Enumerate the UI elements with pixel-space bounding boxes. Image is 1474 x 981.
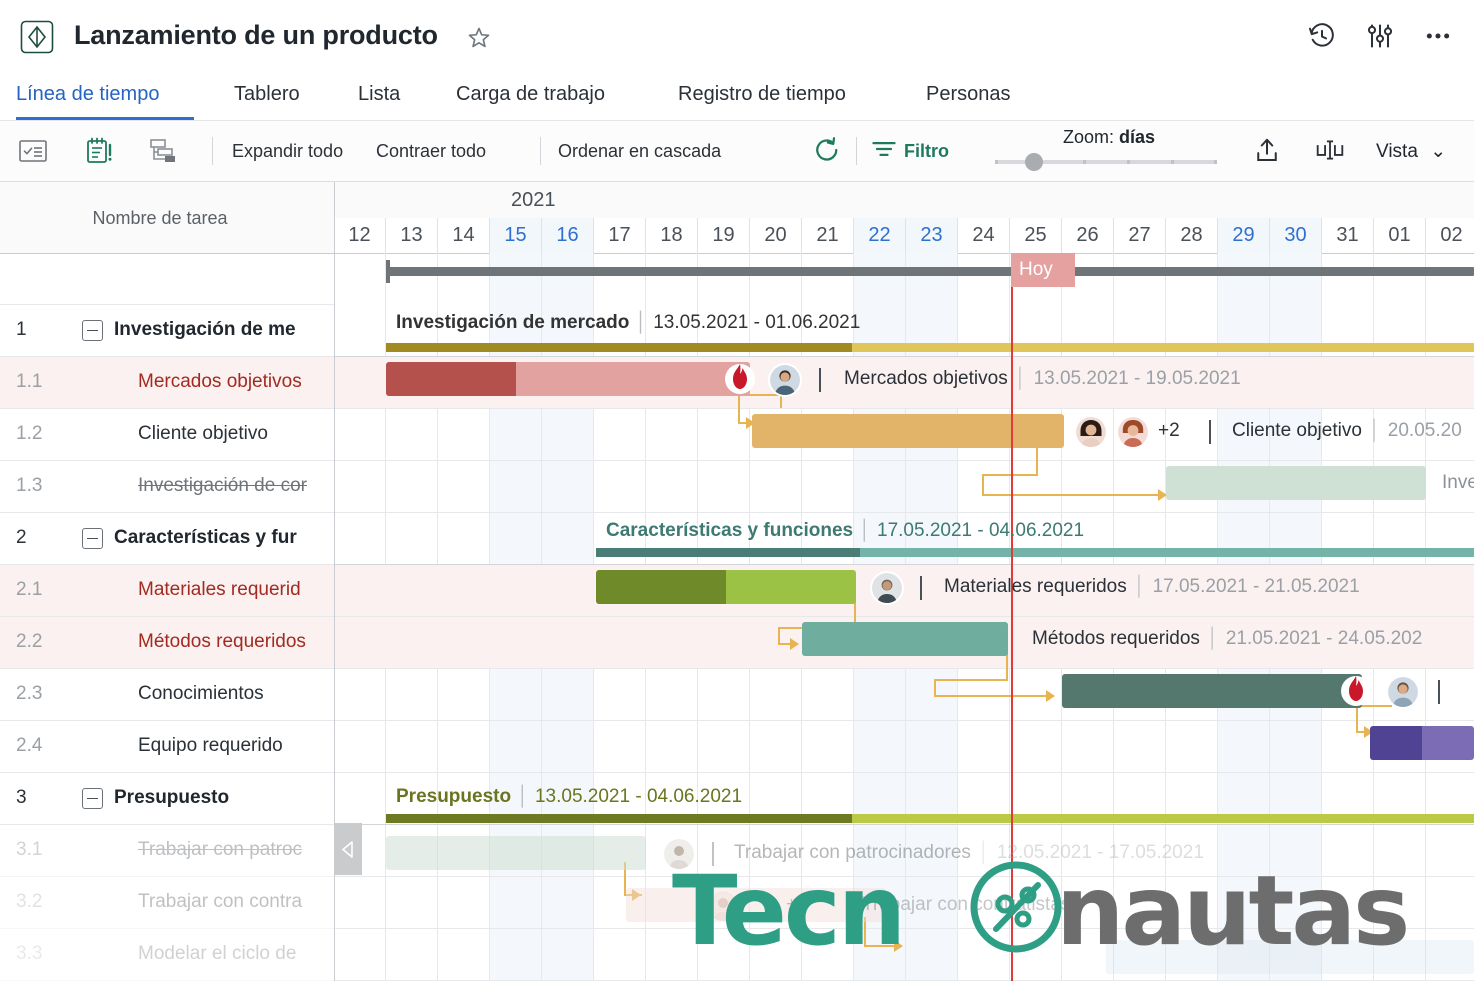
today-line <box>1011 253 1013 981</box>
bar-progress-fill <box>386 836 646 870</box>
zoom-value: días <box>1119 127 1155 147</box>
dependency-link <box>1356 705 1360 733</box>
label-separator <box>1209 420 1211 444</box>
task-row-1-2[interactable]: 1.2Cliente objetivo <box>0 409 334 461</box>
dependency-link <box>982 474 986 496</box>
task-row-name: Trabajar con contra <box>138 891 328 913</box>
dependency-link <box>934 695 1054 699</box>
view-dropdown-label: Vista <box>1376 141 1418 162</box>
dependency-link <box>1006 653 1010 681</box>
avatar[interactable] <box>1074 415 1108 449</box>
collapse-all-button[interactable]: Contraer todo <box>376 141 486 162</box>
avatar[interactable] <box>1116 415 1150 449</box>
task-row-1-3[interactable]: 1.3Investigación de cor <box>0 461 334 513</box>
summary-label-1: Investigación de mercado│13.05.2021 - 01… <box>396 312 860 334</box>
summary-progress-fill <box>386 814 852 823</box>
task-row-name: Características y fur <box>114 527 326 549</box>
avatar[interactable] <box>768 363 802 397</box>
dependency-link <box>982 474 1038 478</box>
task-bar-trabajar-contratistas[interactable] <box>626 888 886 922</box>
day-header-26[interactable]: 26 <box>1062 218 1114 253</box>
chevron-down-icon: ⌄ <box>1430 141 1446 162</box>
today-badge: Hoy <box>1011 253 1075 287</box>
task-name: Métodos requeridos <box>1032 628 1200 649</box>
project-progress-line <box>386 267 1474 276</box>
task-row-name: Modelar el ciclo de <box>138 943 328 965</box>
bar-progress-fill <box>1062 674 1362 708</box>
task-label-trabajar-contratistas: Trabajar con contratistas <box>862 894 1070 916</box>
task-row-name: Conocimientos <box>138 683 328 705</box>
task-label-cliente-objetivo: Cliente objetivo│20.05.20 <box>1232 420 1462 442</box>
task-row-name: Mercados objetivos <box>138 371 328 393</box>
task-row-number: 1.2 <box>16 423 42 445</box>
summary-remaining-fill <box>852 343 1474 352</box>
flame-icon <box>1340 673 1372 707</box>
bar-progress-fill <box>386 362 516 396</box>
task-label-investigacion-competencia: Inve <box>1442 472 1474 494</box>
task-row-name: Presupuesto <box>114 787 326 809</box>
tab-registro-de-tiempo[interactable]: Registro de tiempo <box>678 76 886 120</box>
day-header-28[interactable]: 28 <box>1166 218 1218 253</box>
avatar[interactable] <box>1386 675 1420 709</box>
avatar-overflow-count: +2 <box>786 894 808 916</box>
slider-notch <box>1083 160 1086 164</box>
pane-collapse-handle[interactable] <box>334 823 362 875</box>
task-row-name: Materiales requerid <box>138 579 328 601</box>
day-header-12[interactable]: 12 <box>334 218 386 253</box>
day-header-18[interactable]: 18 <box>646 218 698 253</box>
collapse-toggle-icon[interactable] <box>82 528 103 549</box>
dependency-link <box>934 679 1008 683</box>
bar-progress-fill <box>752 414 1064 448</box>
more-ellipsis-icon[interactable] <box>1420 18 1456 54</box>
collapse-toggle-icon[interactable] <box>82 788 103 809</box>
day-header-13[interactable]: 13 <box>386 218 438 253</box>
task-row-name: Investigación de me <box>114 319 326 341</box>
task-row-number: 2.3 <box>16 683 42 705</box>
collapse-left-triangle-icon <box>341 841 355 858</box>
summary-remaining-fill <box>860 548 1474 557</box>
task-row-number: 3.1 <box>16 839 42 861</box>
day-header-15[interactable]: 15 <box>490 218 542 253</box>
summary-bar-2[interactable] <box>596 548 1474 557</box>
collapse-toggle-icon[interactable] <box>82 320 103 341</box>
zoom-prefix: Zoom: <box>1063 127 1114 147</box>
summary-title: Investigación de mercado <box>396 312 629 333</box>
zoom-label: Zoom: días <box>1063 127 1155 148</box>
view-dropdown[interactable]: Vista ⌄ <box>1376 140 1446 163</box>
task-row-name: Trabajar con patroc <box>138 839 328 861</box>
tab-lista[interactable]: Lista <box>358 76 416 120</box>
avatar[interactable] <box>706 889 740 923</box>
summary-bar-1[interactable] <box>386 343 1474 352</box>
summary-label-3: Presupuesto│13.05.2021 - 04.06.2021 <box>396 786 742 808</box>
task-row-name: Investigación de cor <box>138 475 328 497</box>
dependency-arrow-icon <box>894 940 903 952</box>
task-dates: 20.05.20 <box>1388 420 1462 441</box>
task-list-rows: 1Investigación de me1.1Mercados objetivo… <box>0 253 334 981</box>
slider-notch <box>1127 160 1130 164</box>
slider-notch <box>1171 160 1174 164</box>
bar-remaining-fill <box>1422 726 1474 760</box>
day-header-19[interactable]: 19 <box>698 218 750 253</box>
day-header-31[interactable]: 31 <box>1322 218 1374 253</box>
task-row-number: 3 <box>16 787 27 809</box>
task-row-name: Cliente objetivo <box>138 423 328 445</box>
task-row-2[interactable]: 2Características y fur <box>0 513 334 565</box>
day-header-14[interactable]: 14 <box>438 218 490 253</box>
zoom-slider[interactable] <box>995 160 1217 164</box>
task-row-number: 2.2 <box>16 631 42 653</box>
fit-to-screen-icon[interactable] <box>1314 135 1348 167</box>
history-clock-icon[interactable] <box>1304 18 1340 54</box>
timeline-year-label: 2021 <box>511 189 556 212</box>
task-row-2-4[interactable]: 2.4Equipo requerido <box>0 721 334 773</box>
day-header-16[interactable]: 16 <box>542 218 594 253</box>
bar-remaining-fill <box>516 362 750 396</box>
dependency-arrow-icon <box>790 638 799 650</box>
task-row-number: 3.3 <box>16 943 42 965</box>
task-dates: 17.05.2021 - 21.05.2021 <box>1153 576 1360 597</box>
task-row-3-1[interactable]: 3.1Trabajar con patroc <box>0 825 334 877</box>
bar-progress-fill <box>1370 726 1422 760</box>
task-bar-equipo-requerido[interactable] <box>1370 726 1474 760</box>
task-name: Cliente objetivo <box>1232 420 1362 441</box>
avatar[interactable] <box>870 571 904 605</box>
task-bar-mercados-objetivos[interactable] <box>386 362 750 396</box>
day-header-29[interactable]: 29 <box>1218 218 1270 253</box>
task-row-name: Métodos requeridos <box>138 631 328 653</box>
label-separator <box>819 368 821 392</box>
task-bar-materiales-requeridos[interactable] <box>596 570 856 604</box>
cascade-sort-button[interactable]: Ordenar en cascada <box>558 141 721 162</box>
task-row-number: 2.4 <box>16 735 42 757</box>
avatar[interactable] <box>662 837 696 871</box>
task-row-number: 1.1 <box>16 371 42 393</box>
top-bar: Lanzamiento de un producto <box>0 0 1474 72</box>
task-bar-investigacion-competencia[interactable] <box>1166 466 1426 500</box>
view-tabs: Línea de tiempoTableroListaCarga de trab… <box>0 76 1474 121</box>
task-row-name: Equipo requerido <box>138 735 328 757</box>
toolbar: Expandir todo Contraer todo Ordenar en c… <box>0 121 1474 182</box>
label-separator <box>712 842 714 866</box>
day-header-25[interactable]: 25 <box>1010 218 1062 253</box>
day-header-27[interactable]: 27 <box>1114 218 1166 253</box>
task-bar-metodos-requeridos[interactable] <box>802 622 1008 656</box>
task-row-number: 2.1 <box>16 579 42 601</box>
summary-label-2: Características y funciones│17.05.2021 -… <box>606 520 1084 542</box>
task-bar-trabajar-patrocinadores[interactable] <box>386 836 646 870</box>
tab-tablero[interactable]: Tablero <box>234 76 322 120</box>
checklist-icon[interactable] <box>18 135 52 167</box>
bar-progress-fill <box>1166 466 1426 500</box>
task-row-2-2[interactable]: 2.2Métodos requeridos <box>0 617 334 669</box>
task-column-header-label: Nombre de tarea <box>0 208 320 229</box>
task-row-number: 1.3 <box>16 475 42 497</box>
day-header-21[interactable]: 21 <box>802 218 854 253</box>
dependency-arrow-icon <box>1046 690 1055 702</box>
page-title: Lanzamiento de un producto <box>74 20 438 51</box>
day-header-01[interactable]: 01 <box>1374 218 1426 253</box>
task-dates: 12.05.2021 - 17.05.2021 <box>997 842 1204 863</box>
day-header-23[interactable]: 23 <box>906 218 958 253</box>
zoom-slider-knob[interactable] <box>1025 153 1043 171</box>
flame-icon <box>724 361 756 395</box>
toolbar-divider-3 <box>856 137 857 165</box>
task-name: Materiales requeridos <box>944 576 1127 597</box>
task-dates: 21.05.2021 - 24.05.202 <box>1226 628 1423 649</box>
gantt-app: Lanzamiento de un producto <box>0 0 1474 981</box>
day-header-22[interactable]: 22 <box>854 218 906 253</box>
task-row-1-1[interactable]: 1.1Mercados objetivos <box>0 357 334 409</box>
slider-notch <box>1214 160 1217 164</box>
task-row-number: 2 <box>16 527 27 549</box>
timeline-panel: 2021 12131415161718192021222324252627282… <box>334 182 1474 981</box>
expand-all-button[interactable]: Expandir todo <box>232 141 343 162</box>
tab-personas[interactable]: Personas <box>926 76 1030 120</box>
task-row-3[interactable]: 3Presupuesto <box>0 773 334 825</box>
task-bar-conocimientos[interactable] <box>1062 674 1362 708</box>
tab-carga-de-trabajo[interactable]: Carga de trabajo <box>456 76 636 120</box>
slider-notch <box>995 160 998 164</box>
task-row-2-3[interactable]: 2.3Conocimientos <box>0 669 334 721</box>
task-row-2-1[interactable]: 2.1Materiales requerid <box>0 565 334 617</box>
diamond-logo-icon <box>20 20 54 54</box>
filter-button[interactable]: Filtro <box>904 141 949 162</box>
summary-remaining-fill <box>852 814 1474 823</box>
task-column-header: Nombre de tarea <box>0 182 334 254</box>
summary-progress-fill <box>386 343 852 352</box>
toolbar-divider <box>212 137 213 165</box>
summary-progress-fill <box>596 548 860 557</box>
timeline-row-band <box>334 721 1474 773</box>
summary-dates: 13.05.2021 - 04.06.2021 <box>535 786 742 807</box>
task-row-3-3[interactable]: 3.3Modelar el ciclo de <box>0 929 334 981</box>
task-bar-modelar-ciclo[interactable] <box>1106 940 1474 974</box>
task-list-spacer-row <box>0 253 334 305</box>
avatar-overflow-count: +2 <box>1158 420 1180 442</box>
hierarchy-icon[interactable] <box>148 135 182 167</box>
bar-remaining-fill <box>726 570 856 604</box>
task-row-number: 3.2 <box>16 891 42 913</box>
bar-progress-fill <box>1106 940 1474 974</box>
task-label-metodos-requeridos: Métodos requeridos│21.05.2021 - 24.05.20… <box>1032 628 1422 650</box>
task-name: Inve <box>1442 472 1474 493</box>
summary-dates: 17.05.2021 - 04.06.2021 <box>877 520 1084 541</box>
task-label-materiales-requeridos: Materiales requeridos│17.05.2021 - 21.05… <box>944 576 1360 598</box>
export-upload-icon[interactable] <box>1252 135 1286 167</box>
timeline-day-header: 1213141516171819202122232425262728293031… <box>334 218 1474 254</box>
toolbar-divider-2 <box>540 137 541 165</box>
sliders-settings-icon[interactable] <box>1362 18 1398 54</box>
summary-dates: 13.05.2021 - 01.06.2021 <box>653 312 860 333</box>
timeline-year-header: 2021 <box>334 182 1474 219</box>
task-row-number: 1 <box>16 319 27 341</box>
bar-progress-fill <box>626 888 886 922</box>
dependency-link <box>1036 446 1040 476</box>
day-header-02[interactable]: 02 <box>1426 218 1474 253</box>
task-name: Mercados objetivos <box>844 368 1008 389</box>
favorite-star-icon[interactable] <box>466 25 492 51</box>
bar-progress-fill <box>596 570 726 604</box>
day-header-20[interactable]: 20 <box>750 218 802 253</box>
filter-icon[interactable] <box>870 135 904 167</box>
task-name: Trabajar con patrocinadores <box>734 842 971 863</box>
refresh-icon[interactable] <box>812 135 846 167</box>
task-bar-cliente-objetivo[interactable] <box>752 414 1064 448</box>
task-dates: 13.05.2021 - 19.05.2021 <box>1034 368 1241 389</box>
task-label-mercados-objetivos: Mercados objetivos│13.05.2021 - 19.05.20… <box>844 368 1241 390</box>
task-alert-icon[interactable] <box>84 135 118 167</box>
day-header-30[interactable]: 30 <box>1270 218 1322 253</box>
label-separator <box>1438 680 1440 704</box>
summary-bar-3[interactable] <box>386 814 1474 823</box>
day-header-24[interactable]: 24 <box>958 218 1010 253</box>
bar-progress-fill <box>802 622 1008 656</box>
summary-title: Presupuesto <box>396 786 511 807</box>
dependency-link <box>982 494 1168 498</box>
task-list-pane: Nombre de tarea 1Investigación de me1.1M… <box>0 182 335 981</box>
task-row-1[interactable]: 1Investigación de me <box>0 305 334 357</box>
tab-l-nea-de-tiempo[interactable]: Línea de tiempo <box>16 76 194 120</box>
task-label-trabajar-patrocinadores: Trabajar con patrocinadores│12.05.2021 -… <box>734 842 1204 864</box>
task-row-3-2[interactable]: 3.2Trabajar con contra <box>0 877 334 929</box>
gantt-grid: 2021 12131415161718192021222324252627282… <box>0 182 1474 981</box>
task-name: Trabajar con contratistas <box>862 894 1070 915</box>
label-separator <box>920 576 922 600</box>
day-header-17[interactable]: 17 <box>594 218 646 253</box>
summary-title: Características y funciones <box>606 520 853 541</box>
dependency-link <box>738 394 742 424</box>
top-bar-actions <box>1304 18 1456 54</box>
